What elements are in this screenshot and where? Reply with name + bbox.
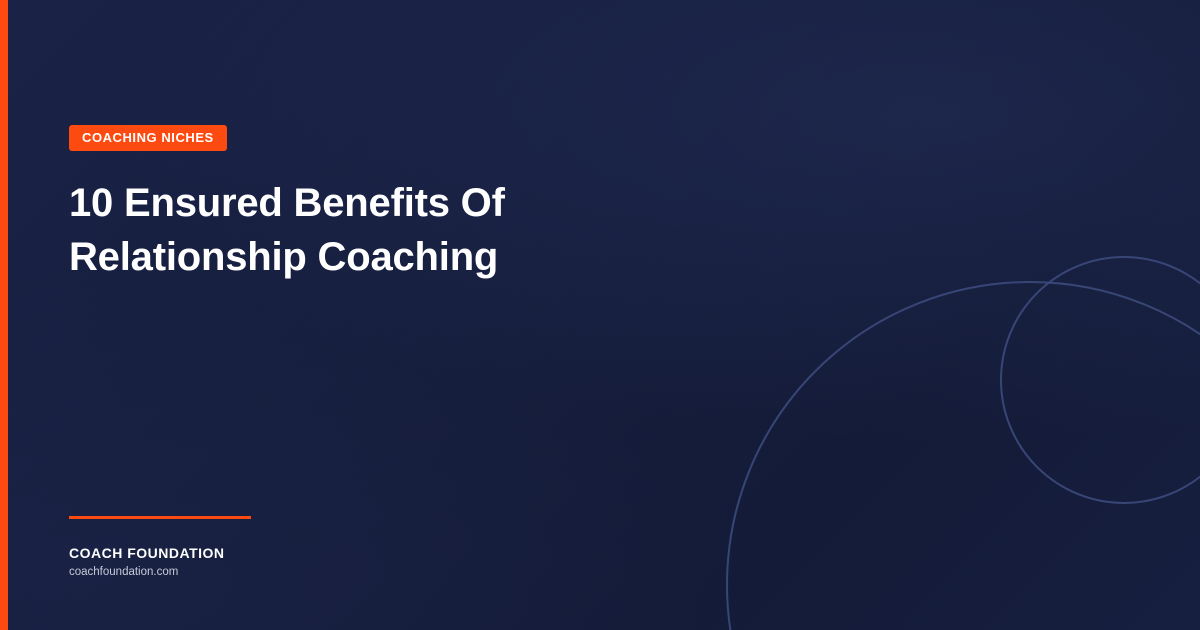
card-content: COACHING NICHES 10 Ensured Benefits Of R… bbox=[69, 0, 769, 630]
brand-url[interactable]: coachfoundation.com bbox=[69, 565, 389, 580]
brand-name: COACH FOUNDATION bbox=[69, 545, 389, 561]
category-badge[interactable]: COACHING NICHES bbox=[69, 125, 227, 151]
large-circle-outline bbox=[727, 282, 1200, 630]
social-share-card: COACHING NICHES 10 Ensured Benefits Of R… bbox=[0, 0, 1200, 630]
page-title: 10 Ensured Benefits Of Relationship Coac… bbox=[69, 176, 709, 284]
card-footer: COACH FOUNDATION coachfoundation.com bbox=[69, 516, 389, 580]
footer-divider bbox=[69, 516, 251, 519]
left-accent-stripe bbox=[0, 0, 8, 630]
small-circle-outline bbox=[1001, 257, 1200, 503]
